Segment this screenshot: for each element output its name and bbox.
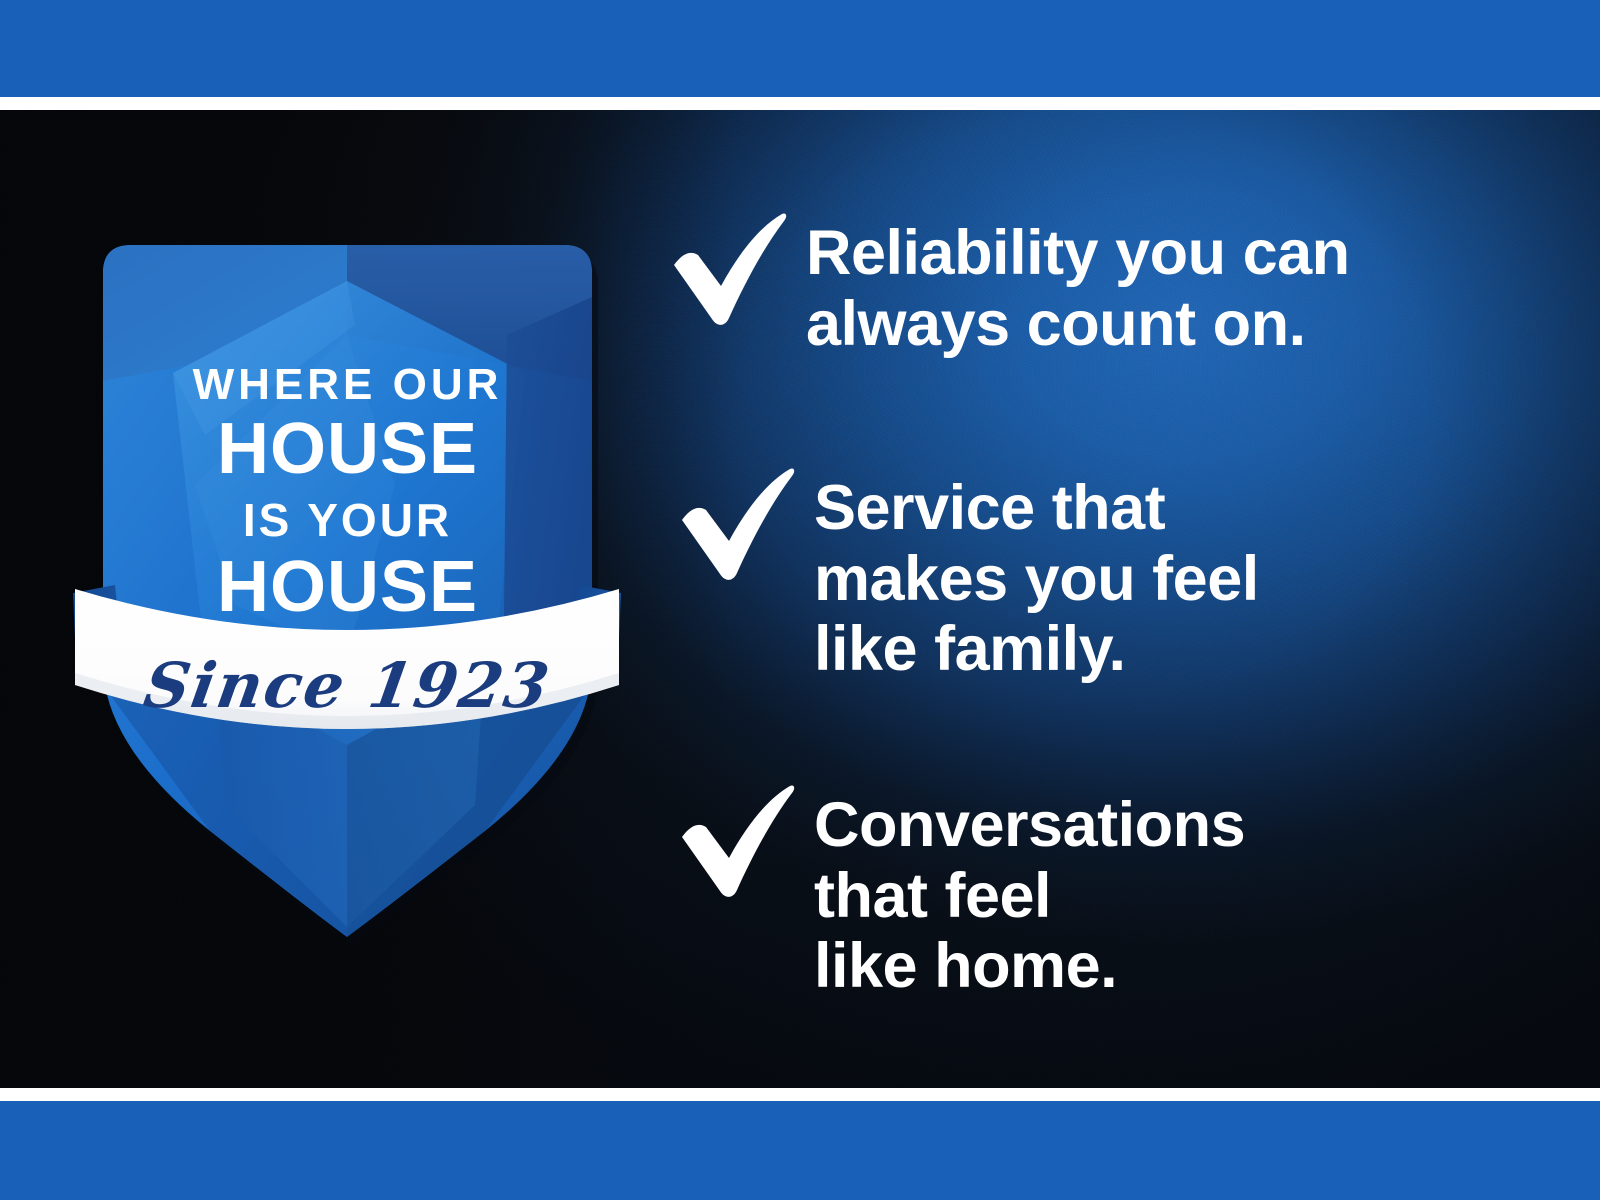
- promo-graphic: Where Our House Is Your House Since 1923…: [0, 0, 1600, 1200]
- benefit-text-2: Service that makes you feel like family.: [814, 473, 1259, 685]
- benefit-2-line-2: makes you feel: [814, 544, 1259, 615]
- benefit-text-3: Conversations that feel like home.: [814, 790, 1245, 1002]
- benefit-3-line-2: that feel: [814, 861, 1245, 932]
- benefit-2-line-3: like family.: [814, 614, 1259, 685]
- top-brand-bar: [0, 0, 1600, 97]
- benefit-item-1: Reliability you can always count on.: [668, 210, 1350, 359]
- benefit-2-line-1: Service that: [814, 473, 1259, 544]
- benefit-3-line-1: Conversations: [814, 790, 1245, 861]
- bottom-brand-bar: [0, 1101, 1600, 1200]
- benefit-text-1: Reliability you can always count on.: [806, 218, 1350, 359]
- benefit-3-line-3: like home.: [814, 931, 1245, 1002]
- benefit-item-2: Service that makes you feel like family.: [676, 465, 1259, 685]
- benefits-list: Reliability you can always count on. Ser…: [668, 110, 1568, 1088]
- top-divider-strip: [0, 97, 1600, 110]
- checkmark-icon: [668, 210, 792, 328]
- benefit-1-line-2: always count on.: [806, 289, 1350, 360]
- bottom-divider-strip: [0, 1088, 1600, 1101]
- checkmark-icon: [676, 782, 800, 900]
- shield-badge: Where Our House Is Your House Since 1923: [55, 185, 640, 835]
- checkmark-icon: [676, 465, 800, 583]
- benefit-1-line-1: Reliability you can: [806, 218, 1350, 289]
- benefit-item-3: Conversations that feel like home.: [676, 782, 1245, 1002]
